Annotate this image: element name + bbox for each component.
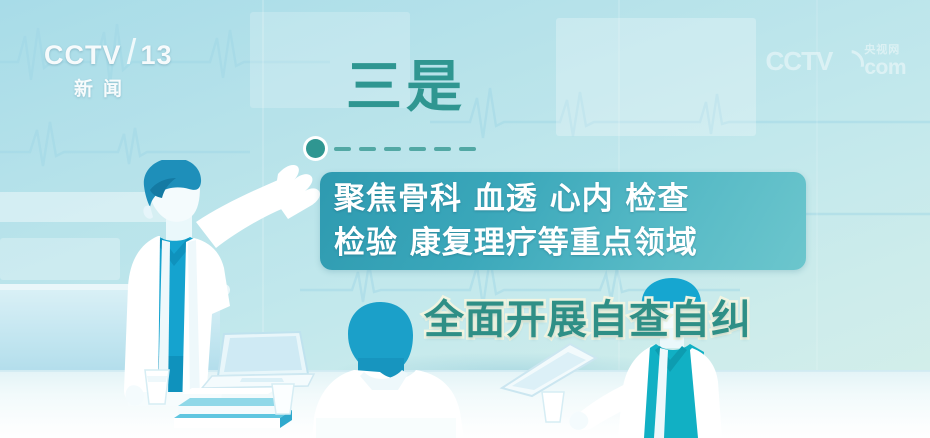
watermark-arc-icon — [836, 48, 860, 74]
banner-line-1: 聚焦骨科 血透 心内 检查 — [334, 177, 792, 221]
watermark-domain-label: com — [864, 57, 906, 78]
headline-kicker: 三是 — [346, 60, 466, 116]
logo-slash-icon — [126, 38, 135, 64]
cup-illustration — [540, 390, 566, 424]
channel-logo-main: CCTV 13 — [44, 38, 194, 71]
watermark: CCTV 央视网 com — [766, 40, 906, 82]
channel-number: 13 — [141, 40, 173, 71]
slogan-text: 全面开展自查自纠 — [424, 300, 752, 340]
channel-logo-text: CCTV — [44, 40, 122, 71]
banner-line-2: 检验 康复理疗等重点领域 — [334, 221, 792, 265]
channel-subtitle: 新闻 — [44, 74, 162, 101]
cup-illustration — [270, 382, 296, 416]
bullet-dot-icon — [306, 139, 325, 158]
wall-panel — [556, 18, 756, 136]
laptop-illustration — [196, 330, 316, 392]
key-message-banner: 聚焦骨科 血透 心内 检查 检验 康复理疗等重点领域 — [320, 172, 806, 270]
watermark-brand: CCTV — [766, 46, 833, 77]
headline-divider — [306, 139, 476, 158]
broadcast-screen: CCTV 13 新闻 CCTV 央视网 com 三是 聚焦骨科 血透 心内 检查… — [0, 0, 930, 438]
cup-illustration — [142, 368, 172, 406]
watermark-right: 央视网 com — [864, 45, 906, 78]
dashed-line — [334, 147, 476, 151]
watermark-cn-label: 央视网 — [864, 45, 906, 56]
channel-logo: CCTV 13 新闻 — [44, 38, 194, 104]
